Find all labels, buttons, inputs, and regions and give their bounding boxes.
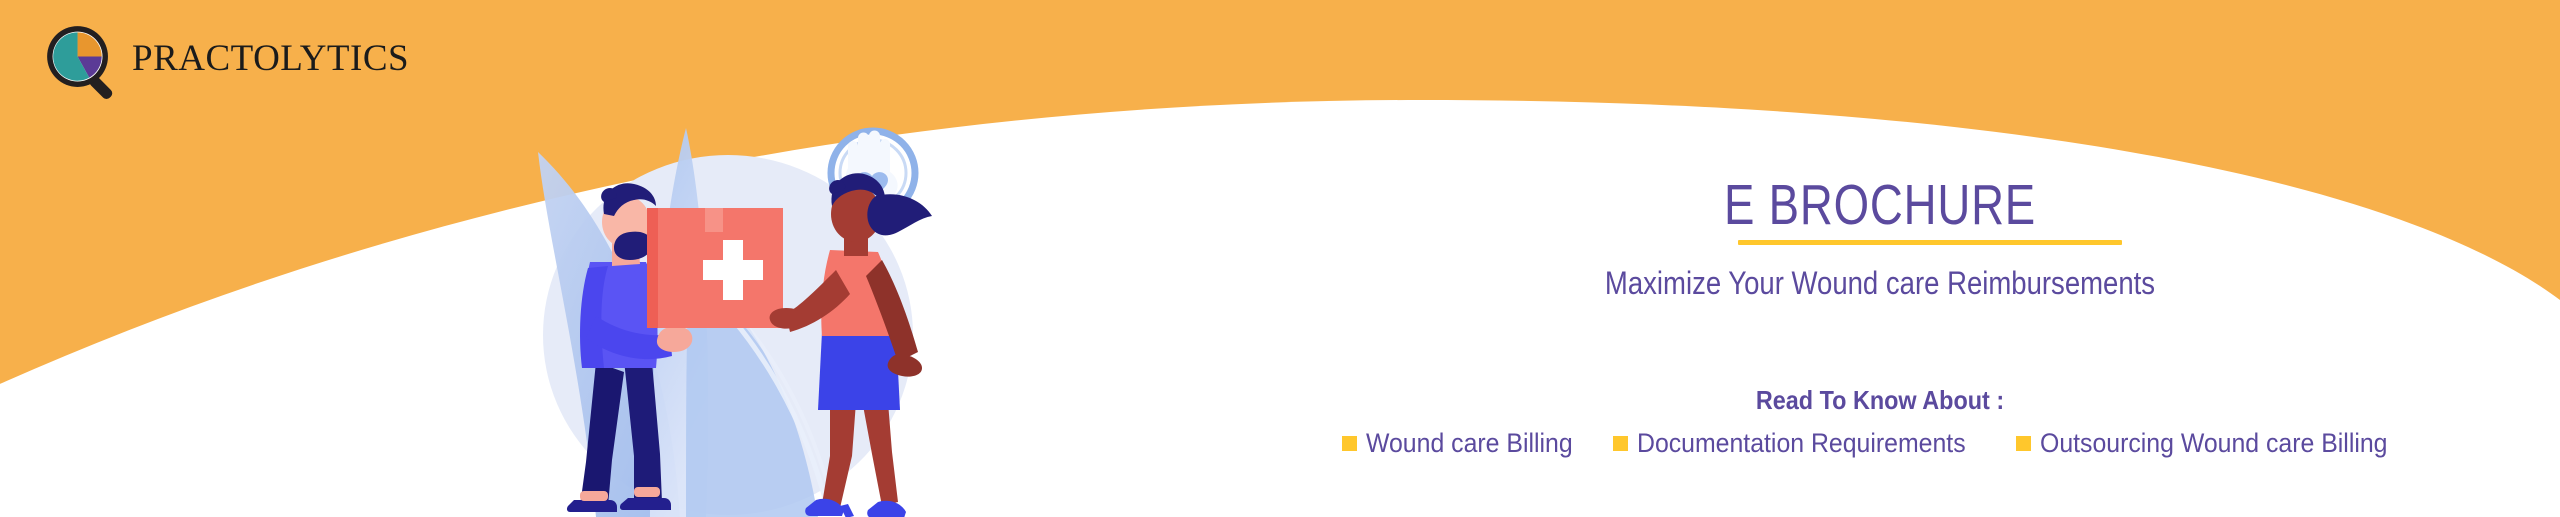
title-underline-rule	[1738, 240, 2122, 245]
topic-label: Documentation Requirements	[1637, 430, 1966, 457]
topic-list: Wound care Billing Documentation Require…	[1200, 430, 2560, 457]
magnifier-pie-chart-logo-icon	[44, 23, 122, 101]
page-subtitle: Maximize Your Wound care Reimbursements	[1295, 263, 2465, 303]
read-to-know-heading: Read To Know About :	[1268, 385, 2492, 416]
square-bullet-icon	[1613, 436, 1628, 451]
topic-label: Wound care Billing	[1366, 430, 1573, 457]
e-brochure-banner: PRACTOLYTICS	[0, 0, 2560, 517]
medical-aid-delivery-illustration	[500, 110, 960, 517]
brochure-content: E BROCHURE Maximize Your Wound care Reim…	[1200, 0, 2560, 517]
topic-label: Outsourcing Wound care Billing	[2040, 430, 2387, 457]
brand-name: PRACTOLYTICS	[132, 40, 409, 77]
list-item: Documentation Requirements	[1613, 430, 1994, 457]
square-bullet-icon	[1342, 436, 1357, 451]
brand-logo[interactable]: PRACTOLYTICS	[44, 22, 409, 102]
list-item: Wound care Billing	[1342, 430, 1591, 457]
page-title: E BROCHURE	[1336, 177, 2424, 234]
square-bullet-icon	[2016, 436, 2031, 451]
list-item: Outsourcing Wound care Billing	[2016, 430, 2418, 457]
